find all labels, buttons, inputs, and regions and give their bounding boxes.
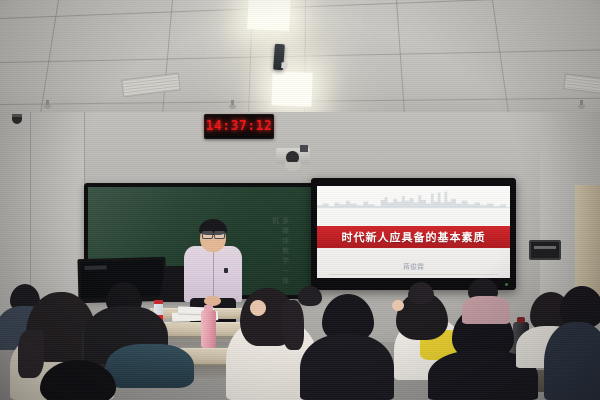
lecturer-glasses-icon — [214, 231, 225, 239]
ceiling-light-panel — [271, 71, 312, 106]
jacket-on-desk — [106, 344, 194, 388]
classroom-photo: 14:37:12 多媒体教学一体机 时代新人应具备的基本素质 蒋俊霖 2019年… — [0, 0, 600, 400]
student-head — [298, 286, 322, 306]
lecturer-badge — [224, 268, 228, 273]
presentation-slide: 时代新人应具备的基本素质 蒋俊霖 2019年11月 — [317, 186, 510, 278]
display-power-led-icon — [505, 283, 508, 286]
sprinkler-head — [578, 100, 585, 109]
ceiling-light-panel — [247, 0, 291, 31]
led-wall-clock: 14:37:12 — [204, 114, 274, 139]
sprinkler-head — [229, 100, 236, 109]
ceiling-speaker — [273, 44, 285, 71]
slide-presenter-name: 蒋俊霖 — [317, 262, 510, 272]
student-head — [408, 282, 434, 304]
slide-title-banner: 时代新人应具备的基本素质 — [317, 226, 510, 248]
clock-time: 14:37:12 — [206, 119, 273, 134]
chalkboard-side-label: 多媒体教学一体机 — [270, 217, 290, 295]
wall-display: 时代新人应具备的基本素质 蒋俊霖 2019年11月 — [311, 178, 516, 290]
skyline-graphic — [317, 188, 510, 208]
pink-thermos — [201, 310, 216, 348]
student-body — [300, 334, 394, 400]
sprinkler-head — [44, 100, 51, 109]
student-body — [544, 322, 600, 400]
wall-control-panel[interactable] — [529, 240, 561, 260]
slide-title: 时代新人应具备的基本素质 — [342, 229, 486, 245]
